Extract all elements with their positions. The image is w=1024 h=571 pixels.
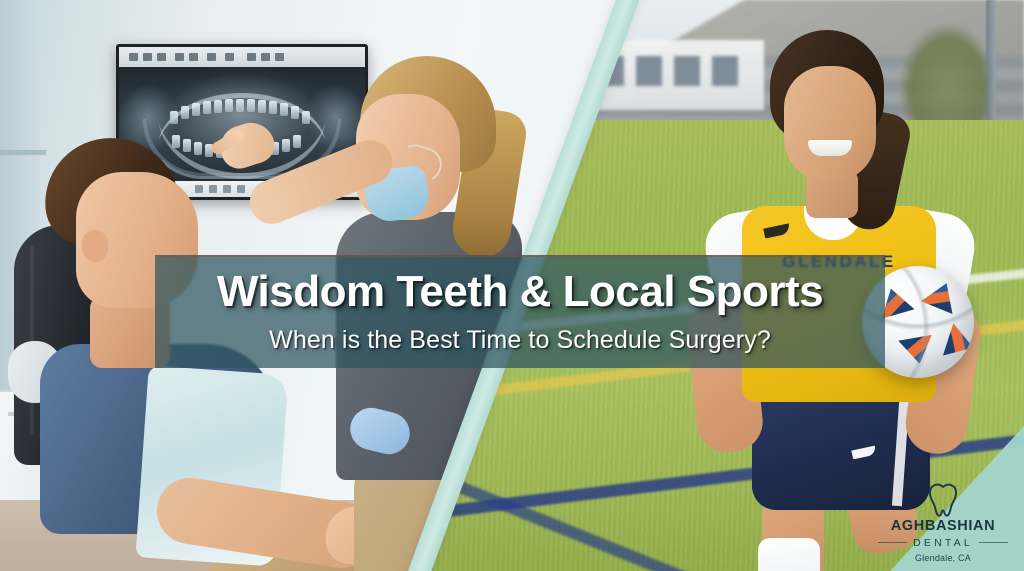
player-sock [758,538,820,571]
page-subtitle: When is the Best Time to Schedule Surger… [269,328,771,353]
logo-rule-left [878,542,907,543]
tooth-icon [926,483,960,517]
logo-city-label: Glendale, CA [915,553,971,563]
player-smile [808,140,852,156]
player-face [784,66,876,182]
logo-subtitle-row: DENTAL [878,538,1008,549]
page-title: Wisdom Teeth & Local Sports [217,270,823,314]
title-banner: Wisdom Teeth & Local Sports When is the … [155,255,885,368]
brand-logo[interactable]: AGHBASHIAN DENTAL Glendale, CA [870,459,1016,563]
patient-ear [82,230,108,262]
banner-root: GLENDALE Wisdom Teeth & Local Sports Whe… [0,0,1024,571]
xray-software-toolbar [119,47,365,67]
logo-brand-name: AGHBASHIAN [891,519,995,534]
logo-rule-right [979,542,1008,543]
logo-brand-subtitle: DENTAL [913,538,973,549]
